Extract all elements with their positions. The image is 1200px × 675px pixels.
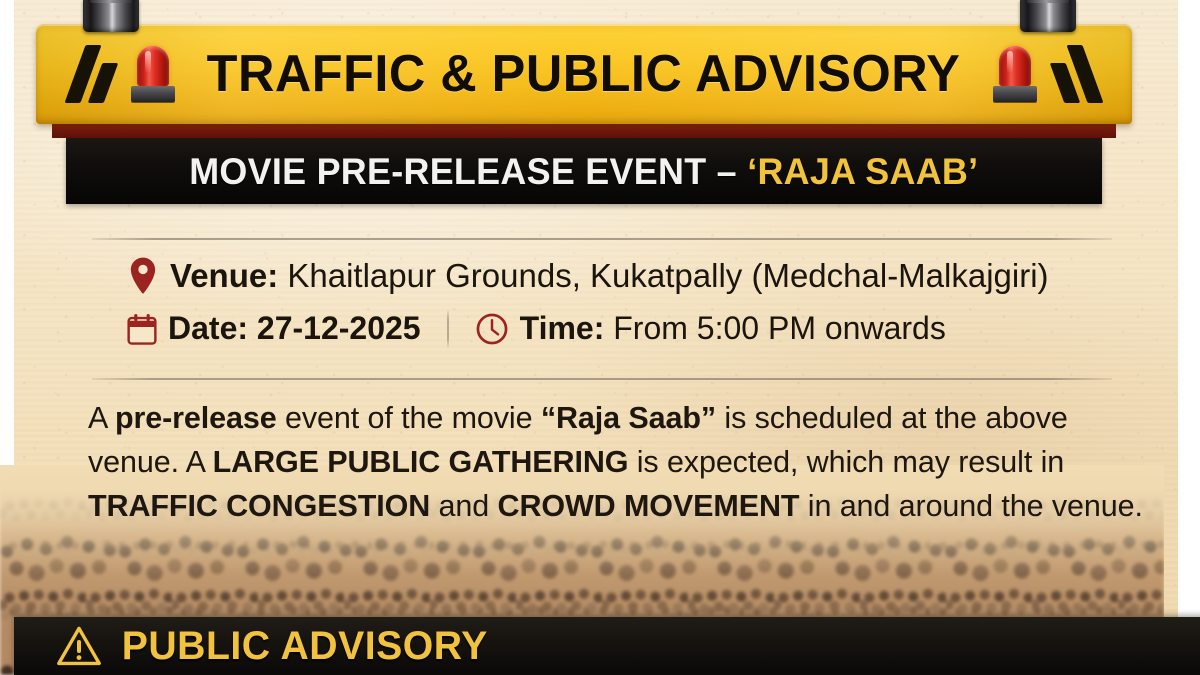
time-value: From 5:00 PM onwards bbox=[613, 310, 946, 346]
detail-vertical-divider bbox=[447, 310, 449, 348]
event-subtitle-prefix: MOVIE PRE-RELEASE EVENT – bbox=[189, 151, 747, 192]
body-seg-9: and bbox=[430, 489, 497, 523]
banner-mount-bracket-right bbox=[1020, 0, 1076, 32]
header-banner: TRAFFIC & PUBLIC ADVISORY bbox=[36, 24, 1132, 124]
body-seg-crowd-movement: CROWD MOVEMENT bbox=[498, 489, 800, 523]
venue-value: Khaitlapur Grounds, Kukatpally (Medchal-… bbox=[287, 257, 1048, 294]
calendar-icon bbox=[126, 312, 158, 346]
time-label: Time: bbox=[520, 310, 605, 346]
date-time-row: Date: 27-12-2025 Time: From 5:00 PM onwa… bbox=[126, 310, 946, 348]
event-subtitle-movie-name: ‘RAJA SAAB’ bbox=[747, 151, 978, 192]
date-label: Date: bbox=[168, 310, 248, 346]
advisory-poster: TRAFFIC & PUBLIC ADVISORY MOVIE PRE-RELE… bbox=[0, 0, 1200, 675]
event-subtitle: MOVIE PRE-RELEASE EVENT – ‘RAJA SAAB’ bbox=[189, 153, 978, 190]
body-seg-1: A bbox=[88, 401, 115, 435]
body-seg-movie-title: “Raja Saab” bbox=[541, 401, 716, 435]
venue-label: Venue: bbox=[170, 257, 278, 294]
divider-top bbox=[92, 238, 1112, 240]
body-seg-11: in and around the venue. bbox=[799, 489, 1142, 523]
venue-row: Venue: Khaitlapur Grounds, Kukatpally (M… bbox=[126, 256, 1049, 296]
body-seg-7: is expected, which may result in bbox=[628, 445, 1064, 479]
warning-triangle-icon bbox=[56, 625, 102, 667]
body-seg-large-public-gathering: LARGE PUBLIC GATHERING bbox=[213, 445, 629, 479]
hazard-slash-marks-left bbox=[75, 45, 111, 103]
siren-light-icon-right bbox=[993, 44, 1037, 104]
body-seg-traffic-congestion: TRAFFIC CONGESTION bbox=[88, 489, 430, 523]
hazard-slash-marks-right bbox=[1057, 45, 1093, 103]
siren-light-icon-left bbox=[131, 44, 175, 104]
page-title: TRAFFIC & PUBLIC ADVISORY bbox=[207, 48, 961, 100]
advisory-body-paragraph: A pre-release event of the movie “Raja S… bbox=[88, 396, 1150, 528]
date-value: 27-12-2025 bbox=[257, 310, 421, 346]
banner-mount-bracket-left bbox=[83, 0, 139, 32]
public-advisory-bar: PUBLIC ADVISORY bbox=[14, 617, 1200, 675]
event-subtitle-bar: MOVIE PRE-RELEASE EVENT – ‘RAJA SAAB’ bbox=[66, 138, 1102, 204]
divider-bottom bbox=[92, 378, 1112, 380]
location-pin-icon bbox=[126, 256, 160, 296]
public-advisory-title: PUBLIC ADVISORY bbox=[122, 626, 488, 666]
clock-icon bbox=[475, 312, 509, 346]
body-seg-prerelease: pre-release bbox=[115, 401, 277, 435]
body-seg-3: event of the movie bbox=[277, 401, 541, 435]
